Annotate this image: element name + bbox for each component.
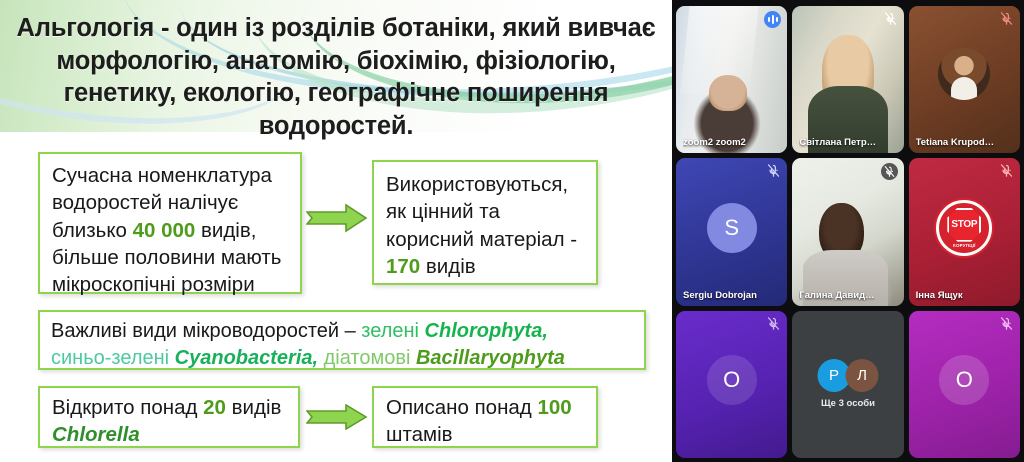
participant-video-feed: [792, 158, 903, 305]
stop-corruption-logo: STOP КОРУПЦІЇ: [936, 200, 992, 256]
species-name-bacillaryophyta: Bacillaryophyta: [416, 347, 565, 369]
species-count-value: 40 000: [133, 219, 196, 242]
species-name-chlorophyta: Chlorophyta,: [425, 320, 548, 342]
species-line-3-pre: близько: [52, 219, 133, 242]
chlorella-line-1-pre: Відкрито понад: [52, 396, 203, 419]
avatar-initial-l: Л: [845, 359, 878, 392]
participant-tile-zoom2[interactable]: zoom2 zoom2: [676, 6, 787, 153]
species-name-chlorella: Chlorella: [52, 423, 140, 446]
important-diatom-word: діатомові: [318, 347, 416, 369]
more-avatars: Р Л: [817, 359, 878, 392]
important-teal-word: синьо-зелені: [51, 347, 175, 369]
video-grid-row-2: S Sergiu Dobrojan: [676, 158, 1020, 305]
participant-tile-tetiana[interactable]: Tetiana Krupodorova: [909, 6, 1020, 153]
video-grid-row-3: О Р Л Ще 3 особи: [676, 311, 1020, 458]
textbox-usage: Використовуються, як цінний та корисний …: [372, 160, 598, 285]
participant-name: Галина Давидо…: [799, 290, 879, 301]
participant-name: Інна Ящук: [916, 290, 996, 301]
usage-line-4-post: видів: [420, 255, 475, 278]
avatar-initial: О: [707, 355, 757, 405]
textbox-strains: Описано понад 100 штамів: [372, 386, 598, 448]
important-intro: Важливі види мікроводоростей –: [51, 320, 361, 342]
usage-line-4-pre: -: [570, 228, 577, 251]
participant-name: Світлана Петренко: [799, 137, 879, 148]
usage-count-value: 170: [386, 255, 420, 278]
species-name-cyanobacteria: Cyanobacteria,: [175, 347, 318, 369]
more-participants-group: Р Л Ще 3 особи: [817, 359, 878, 409]
mic-muted-icon: [766, 163, 781, 178]
mic-muted-icon: [999, 163, 1014, 178]
mic-muted-icon: [999, 11, 1014, 26]
textbox-species-count: Сучасна номенклатура водоростей налічує …: [38, 152, 302, 294]
usage-line-3: корисний матеріал: [386, 228, 565, 251]
participant-name: Sergiu Dobrojan: [683, 290, 763, 301]
avatar-initial: S: [707, 203, 757, 253]
slide-title: Альгологія - один із розділів ботаніки, …: [0, 12, 672, 143]
strains-line-1-pre: Описано понад: [386, 396, 537, 419]
textbox-chlorella: Відкрито понад 20 видів Chlorella: [38, 386, 300, 448]
arrow-species-to-usage: [306, 203, 368, 233]
stop-logo-text: STOP: [947, 208, 981, 242]
chlorella-line-1-post: видів: [226, 396, 281, 419]
species-line-1: Сучасна номенклатура: [52, 164, 272, 187]
avatar-initial: О: [939, 355, 989, 405]
participant-tile-inna[interactable]: STOP КОРУПЦІЇ Інна Ящук: [909, 158, 1020, 305]
participant-tile-o-purple[interactable]: О: [676, 311, 787, 458]
participant-tile-svitlana[interactable]: Світлана Петренко: [792, 6, 903, 153]
participant-tile-o-magenta[interactable]: О: [909, 311, 1020, 458]
arrow-chlorella-to-strains: [306, 404, 368, 430]
participant-video-feed: [792, 6, 903, 153]
stop-logo-subtext: КОРУПЦІЇ: [953, 243, 976, 248]
participant-name: zoom2 zoom2: [683, 137, 763, 148]
mic-muted-icon: [883, 11, 898, 26]
avatar: [938, 48, 990, 100]
species-line-2: водоростей налічує: [52, 191, 238, 214]
usage-line-2: як цінний та: [386, 200, 500, 223]
participant-tile-more-people[interactable]: Р Л Ще 3 особи: [792, 311, 903, 458]
participant-video-feed: [676, 6, 787, 153]
participant-tile-halyna[interactable]: Галина Давидо…: [792, 158, 903, 305]
important-green-word: зелені: [361, 320, 424, 342]
strains-line-2: штамів: [386, 423, 453, 446]
textbox-important-species: Важливі види мікроводоростей – зелені Ch…: [38, 310, 646, 370]
participant-name: Tetiana Krupodorova: [916, 137, 996, 148]
strains-count-value: 100: [537, 396, 571, 419]
participant-tile-sergiu[interactable]: S Sergiu Dobrojan: [676, 158, 787, 305]
mic-muted-icon: [881, 163, 898, 180]
video-conference-panel: zoom2 zoom2 Світлана Петренко: [672, 0, 1024, 462]
usage-line-1: Використовуються,: [386, 173, 568, 196]
chlorella-count-value: 20: [203, 396, 226, 419]
video-grid-row-1: zoom2 zoom2 Світлана Петренко: [676, 6, 1020, 153]
species-line-5: мікроскопічні розміри: [52, 273, 255, 296]
species-line-3-post: видів,: [195, 219, 256, 242]
mic-muted-icon: [766, 316, 781, 331]
more-participants-label: Ще 3 особи: [821, 398, 875, 409]
species-line-4: більше половини мають: [52, 246, 281, 269]
screen-root: Альгологія - один із розділів ботаніки, …: [0, 0, 1024, 462]
presentation-slide: Альгологія - один із розділів ботаніки, …: [0, 0, 672, 462]
mic-muted-icon: [999, 316, 1014, 331]
